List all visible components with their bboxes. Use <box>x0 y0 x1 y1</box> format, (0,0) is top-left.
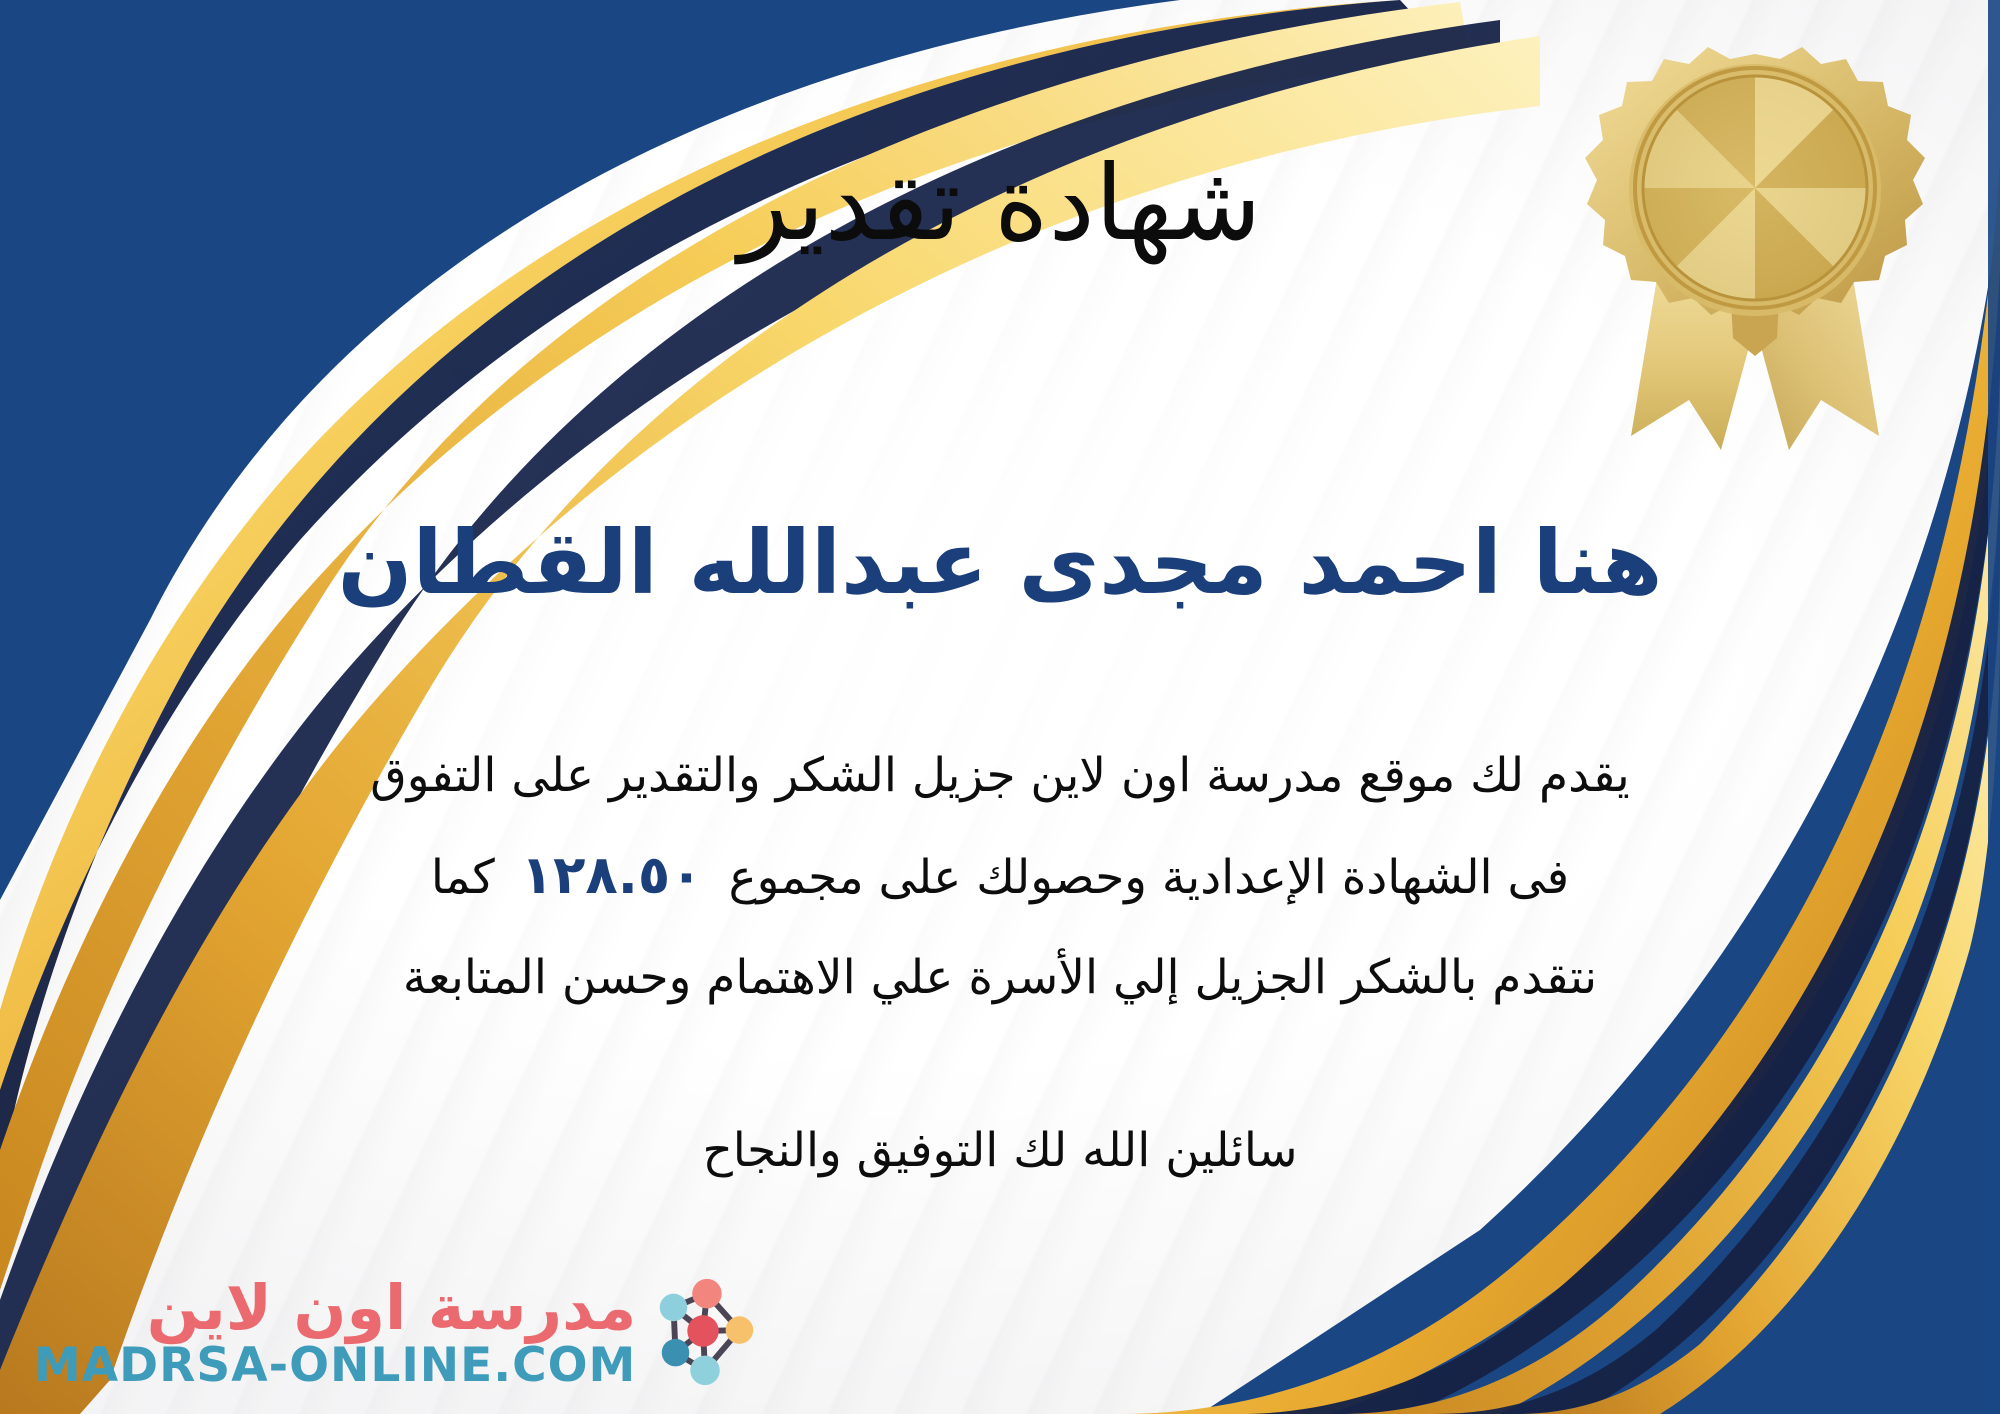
brand-logo[interactable]: مدرسة اون لاين MADRSA-ONLINE.COM <box>34 1274 764 1392</box>
brand-website-url: MADRSA-ONLINE.COM <box>34 1340 636 1392</box>
brand-arabic-name: مدرسة اون لاين <box>147 1275 637 1340</box>
body-line-3: نتقدم بالشكر الجزيل إلي الأسرة علي الاهت… <box>60 928 1940 1028</box>
grade-total-value: ١٢٨.٥٠ <box>495 845 729 906</box>
certificate-page: شهادة تقدير هنا احمد مجدى عبدالله القطان… <box>0 0 2000 1414</box>
page-title: شهادة تقدير <box>0 142 2000 265</box>
brand-text-block: مدرسة اون لاين MADRSA-ONLINE.COM <box>34 1275 636 1392</box>
certificate-body: يقدم لك موقع مدرسة اون لاين جزيل الشكر و… <box>60 726 1940 1028</box>
body-line-2-suffix: كما <box>431 850 495 905</box>
network-nodes-icon <box>646 1274 764 1392</box>
body-line-2-prefix: فى الشهادة الإعدادية وحصولك على مجموع <box>729 850 1570 905</box>
closing-wish: سائلين الله لك التوفيق والنجاح <box>0 1120 2000 1181</box>
body-line-1: يقدم لك موقع مدرسة اون لاين جزيل الشكر و… <box>60 726 1940 826</box>
recipient-name: هنا احمد مجدى عبدالله القطان <box>0 508 2000 618</box>
body-line-2: فى الشهادة الإعدادية وحصولك على مجموع١٢٨… <box>60 826 1940 928</box>
